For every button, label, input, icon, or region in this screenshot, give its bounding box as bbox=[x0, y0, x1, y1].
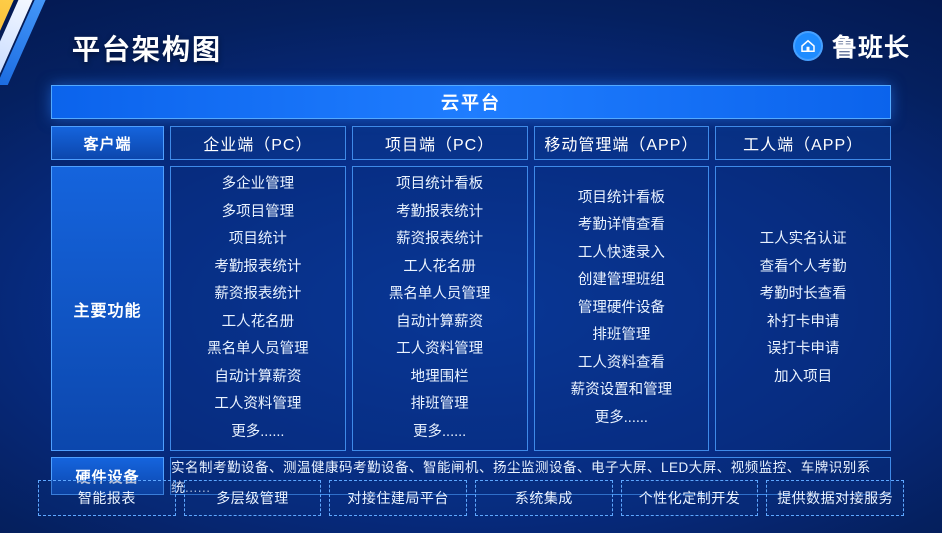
list-item: 考勤时长查看 bbox=[760, 282, 847, 308]
list-item: 项目统计 bbox=[229, 227, 287, 253]
column-head-project-pc[interactable]: 项目端（PC） bbox=[352, 126, 528, 160]
list-item: 工人花名册 bbox=[222, 310, 295, 336]
list-item: 工人实名认证 bbox=[760, 227, 847, 253]
main-functions-row: 主要功能 多企业管理 多项目管理 项目统计 考勤报表统计 薪资报表统计 工人花名… bbox=[51, 166, 891, 451]
row-label-main-functions: 主要功能 bbox=[51, 166, 164, 451]
list-item: 黑名单人员管理 bbox=[389, 282, 491, 308]
functions-worker-app: 工人实名认证 查看个人考勤 考勤时长查看 补打卡申请 误打卡申请 加入项目 bbox=[715, 166, 891, 451]
column-head-mobile-admin-app[interactable]: 移动管理端（APP） bbox=[534, 126, 710, 160]
client-row: 客户端 企业端（PC） 项目端（PC） 移动管理端（APP） 工人端（APP） bbox=[51, 126, 891, 160]
list-item: 管理硬件设备 bbox=[578, 296, 665, 322]
list-item: 考勤详情查看 bbox=[578, 213, 665, 239]
list-item: 多企业管理 bbox=[222, 172, 295, 198]
column-head-enterprise-pc[interactable]: 企业端（PC） bbox=[170, 126, 346, 160]
list-item: 更多...... bbox=[595, 406, 648, 432]
list-item: 自动计算薪资 bbox=[214, 365, 301, 391]
list-item: 加入项目 bbox=[774, 365, 832, 391]
list-item: 误打卡申请 bbox=[767, 337, 840, 363]
list-item: 黑名单人员管理 bbox=[207, 337, 309, 363]
chip-smart-reports[interactable]: 智能报表 bbox=[38, 480, 176, 516]
row-label-client: 客户端 bbox=[51, 126, 164, 160]
functions-project-pc: 项目统计看板 考勤报表统计 薪资报表统计 工人花名册 黑名单人员管理 自动计算薪… bbox=[352, 166, 528, 451]
list-item: 排班管理 bbox=[411, 392, 469, 418]
column-head-worker-app[interactable]: 工人端（APP） bbox=[715, 126, 891, 160]
list-item: 工人资料管理 bbox=[214, 392, 301, 418]
cloud-platform-bar: 云平台 bbox=[51, 85, 891, 119]
list-item: 更多...... bbox=[231, 420, 284, 446]
list-item: 多项目管理 bbox=[222, 200, 295, 226]
chip-data-integration-service[interactable]: 提供数据对接服务 bbox=[766, 480, 904, 516]
list-item: 查看个人考勤 bbox=[760, 255, 847, 281]
chip-custom-development[interactable]: 个性化定制开发 bbox=[621, 480, 759, 516]
list-item: 工人资料管理 bbox=[396, 337, 483, 363]
list-item: 工人快速录入 bbox=[578, 241, 665, 267]
list-item: 补打卡申请 bbox=[767, 310, 840, 336]
brand-name: 鲁班长 bbox=[832, 28, 910, 64]
house-in-circle-icon bbox=[793, 31, 823, 61]
list-item: 排班管理 bbox=[592, 323, 650, 349]
list-item: 地理围栏 bbox=[411, 365, 469, 391]
slide-background: 平台架构图 鲁班长 云平台 客户端 企业端（PC） 项目端（PC） 移动管理端（… bbox=[0, 0, 942, 533]
list-item: 更多...... bbox=[413, 420, 466, 446]
architecture-grid: 客户端 企业端（PC） 项目端（PC） 移动管理端（APP） 工人端（APP） … bbox=[51, 126, 891, 495]
list-item: 项目统计看板 bbox=[396, 172, 483, 198]
chip-system-integration[interactable]: 系统集成 bbox=[475, 480, 613, 516]
list-item: 工人资料查看 bbox=[578, 351, 665, 377]
list-item: 薪资报表统计 bbox=[214, 282, 301, 308]
service-chips: 智能报表 多层级管理 对接住建局平台 系统集成 个性化定制开发 提供数据对接服务 bbox=[38, 480, 904, 516]
brand: 鲁班长 bbox=[793, 28, 910, 64]
list-item: 薪资报表统计 bbox=[396, 227, 483, 253]
chip-government-platform-integration[interactable]: 对接住建局平台 bbox=[329, 480, 467, 516]
list-item: 自动计算薪资 bbox=[396, 310, 483, 336]
functions-enterprise-pc: 多企业管理 多项目管理 项目统计 考勤报表统计 薪资报表统计 工人花名册 黑名单… bbox=[170, 166, 346, 451]
list-item: 考勤报表统计 bbox=[214, 255, 301, 281]
chip-multi-level-management[interactable]: 多层级管理 bbox=[184, 480, 322, 516]
functions-mobile-admin-app: 项目统计看板 考勤详情查看 工人快速录入 创建管理班组 管理硬件设备 排班管理 … bbox=[534, 166, 710, 451]
list-item: 考勤报表统计 bbox=[396, 200, 483, 226]
list-item: 工人花名册 bbox=[403, 255, 476, 281]
header: 平台架构图 鲁班长 bbox=[0, 0, 942, 84]
page-title: 平台架构图 bbox=[72, 28, 222, 68]
list-item: 创建管理班组 bbox=[578, 268, 665, 294]
list-item: 项目统计看板 bbox=[578, 186, 665, 212]
list-item: 薪资设置和管理 bbox=[571, 378, 673, 404]
